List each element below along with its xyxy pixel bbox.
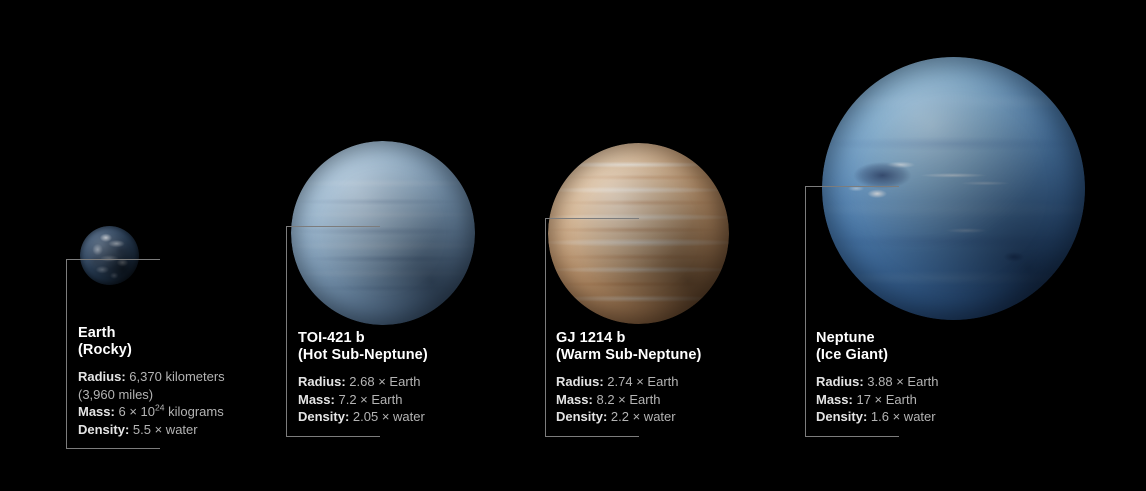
stat-key-density: Density: xyxy=(298,409,349,424)
infographic-canvas: Earth (Rocky) Radius: 6,370 kilometers (… xyxy=(0,0,1146,491)
stat-key-radius: Radius: xyxy=(298,374,346,389)
stat-value-radius: 3.88 × Earth xyxy=(867,374,938,389)
planet-stats-earth: Radius: 6,370 kilometers (3,960 miles) M… xyxy=(78,368,225,438)
planet-name-gj-1214-b: GJ 1214 b xyxy=(556,330,701,347)
stat-key-radius: Radius: xyxy=(556,374,604,389)
stat-key-mass: Mass: xyxy=(816,392,853,407)
label-block-neptune: Neptune (Ice Giant) Radius: 3.88 × Earth… xyxy=(816,330,939,426)
stat-key-mass: Mass: xyxy=(78,404,115,419)
stat-row-radius: Radius: 2.68 × Earth xyxy=(298,373,428,391)
stat-row-density: Density: 2.2 × water xyxy=(556,408,701,426)
stat-value-mass-prefix: 6 × 10 xyxy=(118,404,155,419)
stat-key-mass: Mass: xyxy=(298,392,335,407)
stat-value-mass-suffix: kilograms xyxy=(168,404,224,419)
stat-row-mass: Mass: 6 × 1024 kilograms xyxy=(78,403,225,421)
stat-value-radius: 2.68 × Earth xyxy=(349,374,420,389)
planet-classification-toi-421-b: (Hot Sub-Neptune) xyxy=(298,347,428,364)
stat-value-density: 5.5 × water xyxy=(133,422,198,437)
stat-key-radius: Radius: xyxy=(78,369,126,384)
stat-row-radius-alt: (3,960 miles) xyxy=(78,386,225,404)
stat-key-density: Density: xyxy=(816,409,867,424)
planet-name-toi-421-b: TOI-421 b xyxy=(298,330,428,347)
stat-row-radius: Radius: 2.74 × Earth xyxy=(556,373,701,391)
stat-row-density: Density: 1.6 × water xyxy=(816,408,939,426)
stat-value-radius-alt: (3,960 miles) xyxy=(78,387,153,402)
stat-row-mass: Mass: 8.2 × Earth xyxy=(556,391,701,409)
stat-value-radius: 2.74 × Earth xyxy=(607,374,678,389)
planet-classification-earth: (Rocky) xyxy=(78,342,225,359)
planet-name-earth: Earth xyxy=(78,325,225,342)
label-block-toi-421-b: TOI-421 b (Hot Sub-Neptune) Radius: 2.68… xyxy=(298,330,428,426)
stat-row-density: Density: 5.5 × water xyxy=(78,421,225,439)
stat-value-mass-exponent: 24 xyxy=(155,403,164,413)
label-block-gj-1214-b: GJ 1214 b (Warm Sub-Neptune) Radius: 2.7… xyxy=(556,330,701,426)
planet-stats-neptune: Radius: 3.88 × Earth Mass: 17 × Earth De… xyxy=(816,373,939,426)
stat-value-mass: 17 × Earth xyxy=(856,392,916,407)
planet-stats-toi-421-b: Radius: 2.68 × Earth Mass: 7.2 × Earth D… xyxy=(298,373,428,426)
stat-row-density: Density: 2.05 × water xyxy=(298,408,428,426)
stat-key-mass: Mass: xyxy=(556,392,593,407)
planet-classification-gj-1214-b: (Warm Sub-Neptune) xyxy=(556,347,701,364)
stat-row-radius: Radius: 6,370 kilometers xyxy=(78,368,225,386)
stat-key-radius: Radius: xyxy=(816,374,864,389)
planet-name-neptune: Neptune xyxy=(816,330,939,347)
stat-key-density: Density: xyxy=(556,409,607,424)
planet-classification-neptune: (Ice Giant) xyxy=(816,347,939,364)
stat-value-density: 1.6 × water xyxy=(871,409,936,424)
stat-value-mass: 8.2 × Earth xyxy=(596,392,660,407)
stat-row-radius: Radius: 3.88 × Earth xyxy=(816,373,939,391)
stat-value-radius: 6,370 kilometers xyxy=(129,369,224,384)
label-block-earth: Earth (Rocky) Radius: 6,370 kilometers (… xyxy=(78,325,225,438)
planet-stats-gj-1214-b: Radius: 2.74 × Earth Mass: 8.2 × Earth D… xyxy=(556,373,701,426)
stat-value-mass: 7.2 × Earth xyxy=(338,392,402,407)
stat-value-density: 2.05 × water xyxy=(353,409,425,424)
stat-row-mass: Mass: 7.2 × Earth xyxy=(298,391,428,409)
stat-value-density: 2.2 × water xyxy=(611,409,676,424)
stat-key-density: Density: xyxy=(78,422,129,437)
stat-row-mass: Mass: 17 × Earth xyxy=(816,391,939,409)
